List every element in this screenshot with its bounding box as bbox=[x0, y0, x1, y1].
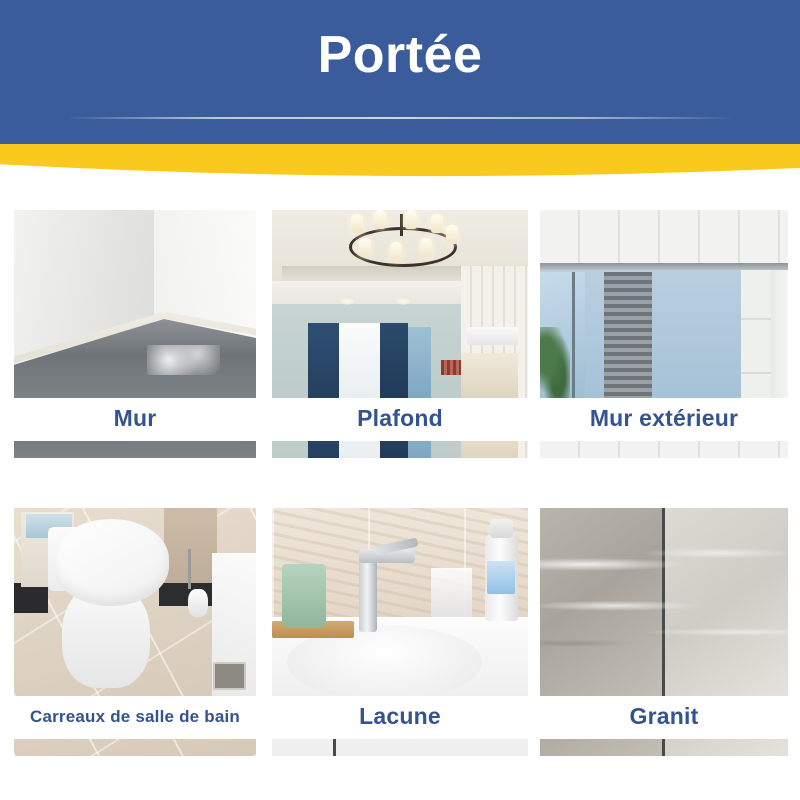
photo-bottom-strip bbox=[14, 441, 256, 458]
gallery-item-mur-exterieur[interactable]: Mur extérieur bbox=[540, 210, 788, 458]
living-room-ceiling-chandelier-photo bbox=[272, 210, 528, 398]
photo-bottom-strip bbox=[272, 441, 528, 458]
infographic-page: Portée Mur bbox=[0, 0, 800, 800]
scope-gallery-grid: Mur bbox=[0, 0, 800, 800]
gallery-item-label: Lacune bbox=[272, 701, 528, 731]
gallery-item-mur[interactable]: Mur bbox=[14, 210, 256, 458]
gallery-item-lacune[interactable]: Lacune bbox=[272, 508, 528, 756]
gallery-item-label: Plafond bbox=[272, 403, 528, 433]
interior-wall-corner-photo bbox=[14, 210, 256, 398]
photo-bottom-strip bbox=[14, 739, 256, 756]
granite-stone-slabs-photo bbox=[540, 508, 788, 696]
gallery-item-label: Mur extérieur bbox=[540, 403, 788, 433]
bathroom-sink-faucet-photo bbox=[272, 508, 528, 696]
photo-bottom-strip bbox=[540, 441, 788, 458]
photo-bottom-strip bbox=[540, 739, 788, 756]
gallery-item-label: Granit bbox=[540, 701, 788, 731]
gallery-item-label: Mur bbox=[14, 403, 256, 433]
gallery-item-granit[interactable]: Granit bbox=[540, 508, 788, 756]
gallery-item-plafond[interactable]: Plafond bbox=[272, 210, 528, 458]
building-exterior-facade-photo bbox=[540, 210, 788, 398]
photo-bottom-strip bbox=[272, 739, 528, 756]
gallery-item-carreaux[interactable]: Carreaux de salle de bain bbox=[14, 508, 256, 756]
bathroom-toilet-tile-floor-photo bbox=[14, 508, 256, 696]
gallery-item-label: Carreaux de salle de bain bbox=[14, 704, 256, 730]
